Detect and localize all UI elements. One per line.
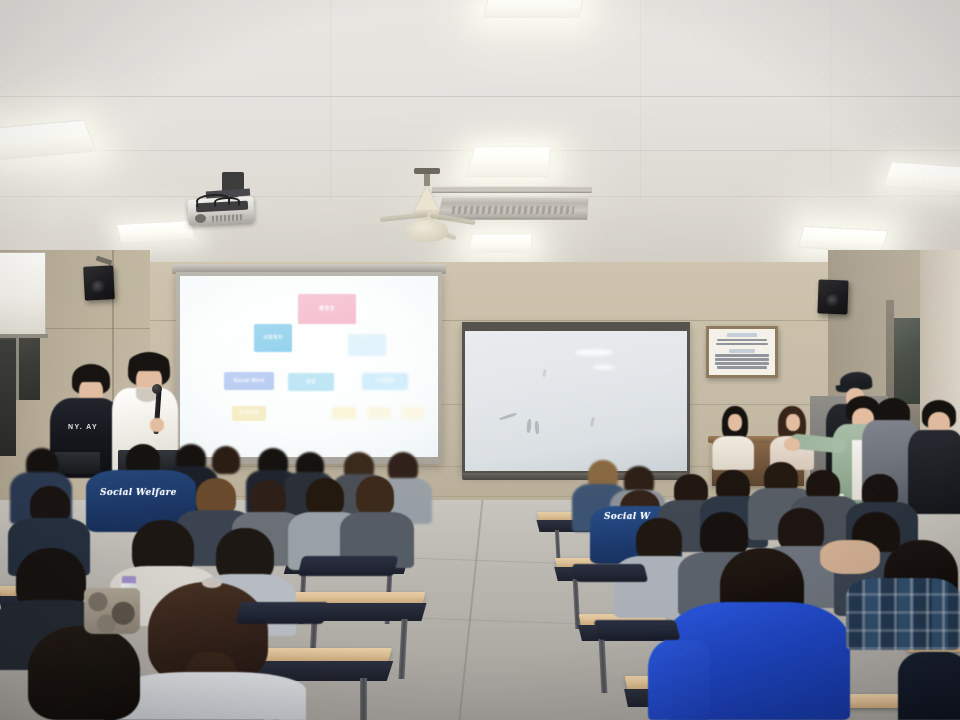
duct-vent — [452, 206, 575, 214]
ceiling-fan-rod — [424, 172, 430, 186]
notice-header-bar — [729, 349, 755, 353]
left-doorway[interactable] — [0, 340, 16, 456]
slide-box-b1: 教育말 — [298, 294, 356, 324]
notice-line — [716, 343, 768, 346]
whiteboard-smudge — [535, 421, 540, 434]
whiteboard-marker-tray — [462, 473, 690, 480]
audience-arm — [820, 540, 880, 574]
presenter-mic-hand — [150, 418, 164, 432]
projection-screen[interactable]: 教育말사회복지Social Work상담사회활동직업교육 — [176, 272, 442, 464]
blue-windbreaker-sleeve — [648, 640, 710, 720]
ceiling-fan-mount — [414, 168, 440, 174]
notice-line — [715, 362, 769, 365]
audience-ponytail-body — [116, 672, 306, 720]
desk — [248, 648, 393, 662]
rear-door-window — [894, 318, 920, 404]
slide-box-b7: 직업교육 — [232, 406, 266, 421]
slide-box-b6: 사회활동 — [362, 373, 408, 390]
chair-back — [572, 564, 648, 582]
camo-bag — [84, 588, 140, 634]
ceiling-fan-light-cover — [406, 220, 448, 242]
audience-foreground-shape — [898, 652, 960, 720]
ceiling-light — [468, 234, 532, 253]
notice-line — [715, 354, 769, 357]
ceiling-light — [116, 220, 196, 244]
slide-box-b8 — [332, 407, 356, 419]
slide-box-b4: Social Work — [224, 372, 274, 390]
notice-header-bar — [727, 333, 757, 337]
projector-lens — [195, 214, 206, 223]
desk-leg — [360, 678, 367, 720]
window-blind[interactable] — [0, 252, 46, 336]
staff-woman-left-body — [712, 436, 754, 470]
ceiling-light — [464, 146, 550, 177]
hoodie-graphic-text: NY. AY — [68, 424, 98, 431]
whiteboard-smudge — [499, 412, 517, 420]
window-mullion — [16, 338, 19, 400]
projected-slide: 教育말사회복지Social Work상담사회활동직업교육 — [180, 276, 438, 457]
speaker-cone — [91, 280, 106, 295]
staff-woman-right-face — [786, 414, 800, 431]
lecture-hall-photo: 教育말사회복지Social Work상담사회활동직업교육 NY. AY — [0, 0, 960, 720]
audience-head — [212, 446, 240, 474]
staff-man-right-body — [908, 430, 960, 514]
chair-back — [594, 620, 681, 640]
presenter-mic-hair — [129, 353, 169, 371]
ceiling-light — [797, 226, 888, 252]
ceiling-seam — [830, 0, 831, 190]
notice-line — [715, 358, 769, 361]
slide-box-b5: 상담 — [288, 373, 334, 391]
audience-head — [250, 480, 286, 516]
chair-back — [235, 602, 328, 624]
whiteboard-smudge — [590, 417, 595, 427]
audience-head — [306, 478, 344, 516]
slide-box-b10 — [402, 407, 424, 419]
notice-line — [717, 366, 767, 369]
presenter-hoodie-hair — [74, 366, 108, 382]
whiteboard-glare — [593, 365, 615, 370]
audience-head-foreground — [28, 626, 140, 720]
microphone-head — [152, 384, 162, 394]
jacket-text-social-welfare: Social Welfare — [100, 488, 177, 498]
whiteboard[interactable] — [462, 322, 690, 474]
projector-cable — [214, 197, 240, 207]
ceiling-air-duct — [432, 186, 593, 193]
ceiling-light — [483, 0, 585, 18]
audience-ponytail-tie — [202, 578, 222, 588]
speaker-cone — [826, 294, 840, 308]
plaid-flannel-shirt — [846, 578, 960, 650]
notice-board — [706, 326, 778, 378]
ceiling-seam — [330, 0, 331, 200]
chair-back — [298, 556, 399, 576]
jacket-text-social-w: Social W — [604, 512, 650, 522]
ceiling-light — [882, 161, 960, 193]
ceiling-seam — [0, 96, 960, 97]
ceiling-seam — [640, 0, 641, 200]
notice-line — [717, 339, 767, 342]
whiteboard-glare — [575, 349, 613, 356]
whiteboard-smudge — [526, 419, 531, 433]
slide-box-b9 — [368, 407, 390, 419]
slide-box-b3 — [348, 334, 386, 356]
ceiling-fan-housing — [414, 186, 440, 212]
staff-woman-left-face — [728, 414, 742, 431]
whiteboard-smudge — [542, 369, 546, 377]
slide-box-b2: 사회복지 — [254, 324, 292, 352]
audience-head — [356, 476, 394, 516]
